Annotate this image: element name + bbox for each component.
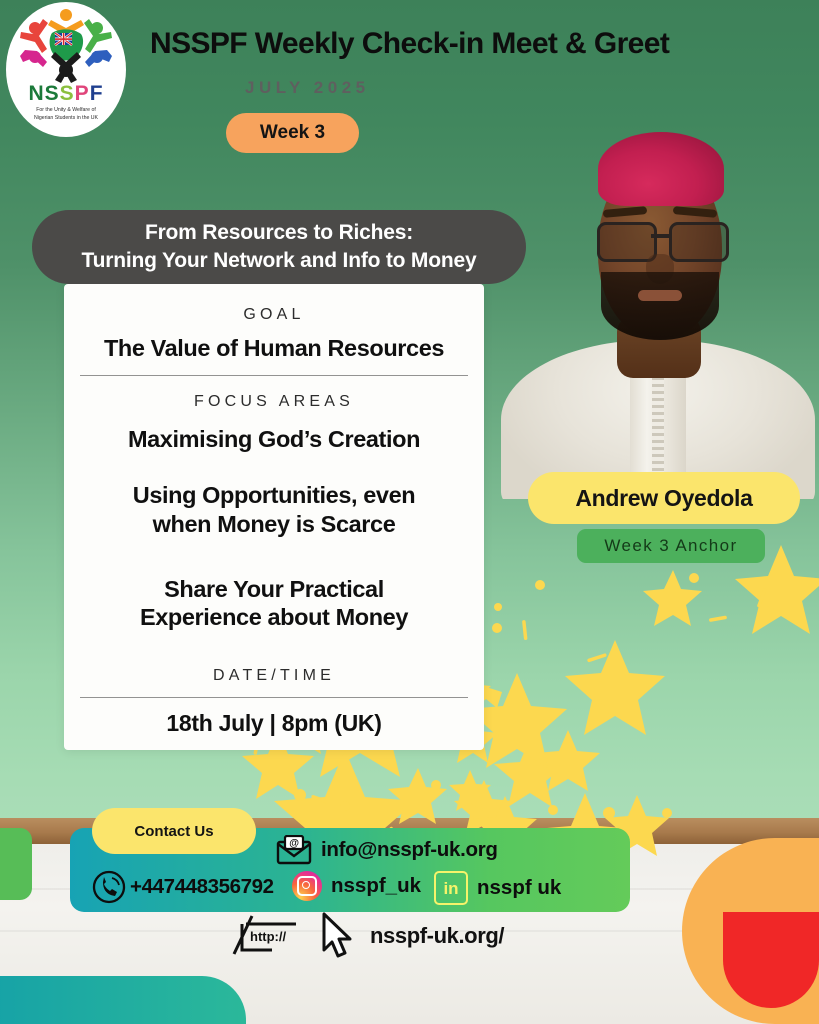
- logo-wordmark: NSSPF: [28, 82, 103, 106]
- month-label: JULY 2025: [245, 78, 370, 98]
- green-rounded-shape-left: [0, 828, 32, 900]
- contact-email[interactable]: @ info@nsspf-uk.org: [276, 835, 498, 865]
- focus-item-3-line1: Share Your Practical: [64, 575, 484, 604]
- session-title-line2: Turning Your Network and Info to Money: [82, 247, 477, 275]
- logo-tagline-line2: Nigerian Students in the UK: [14, 115, 118, 123]
- portrait-glasses-icon: [595, 222, 727, 258]
- contact-linkedin-text: nsspf uk: [477, 876, 561, 900]
- portrait-lips: [638, 290, 682, 301]
- contact-phone[interactable]: +447448356792: [92, 870, 274, 904]
- logo-tagline: For the Unity & Welfare of Nigerian Stud…: [14, 107, 118, 123]
- contact-us-badge: Contact Us: [92, 808, 256, 854]
- mouse-cursor-icon: [316, 910, 358, 962]
- session-title-banner: From Resources to Riches: Turning Your N…: [32, 210, 526, 284]
- focus-section: FOCUS AREAS Maximising God’s Creation Us…: [64, 376, 484, 632]
- poster-canvas: NSSPF For the Unity & Welfare of Nigeria…: [0, 0, 819, 1024]
- contact-email-text: info@nsspf-uk.org: [321, 838, 498, 862]
- page-title: NSSPF Weekly Check-in Meet & Greet: [150, 27, 770, 60]
- goal-label: GOAL: [64, 306, 484, 324]
- focus-item-3: Share Your Practical Experience about Mo…: [64, 575, 484, 632]
- goal-value: The Value of Human Resources: [64, 334, 484, 363]
- contact-phone-text: +447448356792: [130, 875, 274, 899]
- svg-text:@: @: [289, 838, 299, 849]
- focus-item-1: Maximising God’s Creation: [64, 425, 484, 454]
- email-icon: @: [276, 835, 312, 865]
- phone-icon: [92, 870, 126, 904]
- teal-corner-shape: [0, 976, 246, 1024]
- datetime-divider: [80, 697, 468, 698]
- focus-item-2-line2: when Money is Scarce: [64, 510, 484, 539]
- goal-divider: [80, 375, 468, 376]
- speaker-portrait: [497, 104, 819, 499]
- glasses-bridge: [651, 234, 671, 238]
- focus-label: FOCUS AREAS: [64, 393, 484, 411]
- portrait-beard: [601, 272, 719, 340]
- red-semicircle-shape: [723, 912, 819, 1008]
- logo-figures-icon: [11, 6, 121, 84]
- instagram-icon: [292, 871, 322, 901]
- week-badge: Week 3: [226, 113, 359, 153]
- glasses-lens-left: [597, 222, 657, 262]
- datetime-label: DATE/TIME: [64, 667, 484, 685]
- speaker-role-badge: Week 3 Anchor: [577, 529, 765, 563]
- svg-text:http://: http://: [250, 929, 286, 944]
- linkedin-icon: in: [434, 871, 468, 905]
- logo-tagline-line1: For the Unity & Welfare of: [14, 107, 118, 115]
- focus-item-2-line1: Using Opportunities, even: [64, 481, 484, 510]
- details-card: GOAL The Value of Human Resources FOCUS …: [64, 284, 484, 750]
- portrait-cap: [598, 132, 724, 206]
- browser-address-bar-icon: http://: [224, 908, 310, 964]
- datetime-section: DATE/TIME 18th July | 8pm (UK): [64, 667, 484, 737]
- website-link[interactable]: http:// nsspf-uk.org/: [224, 908, 504, 964]
- speaker-name: Andrew Oyedola: [528, 472, 800, 524]
- goal-section: GOAL The Value of Human Resources: [64, 284, 484, 376]
- nsspf-logo: NSSPF For the Unity & Welfare of Nigeria…: [6, 2, 126, 137]
- contact-instagram-text: nsspf_uk: [331, 874, 421, 898]
- contact-instagram[interactable]: nsspf_uk: [292, 871, 421, 901]
- glasses-lens-right: [669, 222, 729, 262]
- website-url-text: nsspf-uk.org/: [370, 923, 504, 949]
- focus-item-3-line2: Experience about Money: [64, 603, 484, 632]
- datetime-value: 18th July | 8pm (UK): [64, 710, 484, 737]
- logo-people-ring-icon: [11, 6, 121, 84]
- contact-linkedin[interactable]: in nsspf uk: [434, 871, 561, 905]
- session-title-line1: From Resources to Riches:: [145, 219, 413, 247]
- focus-item-2: Using Opportunities, even when Money is …: [64, 481, 484, 538]
